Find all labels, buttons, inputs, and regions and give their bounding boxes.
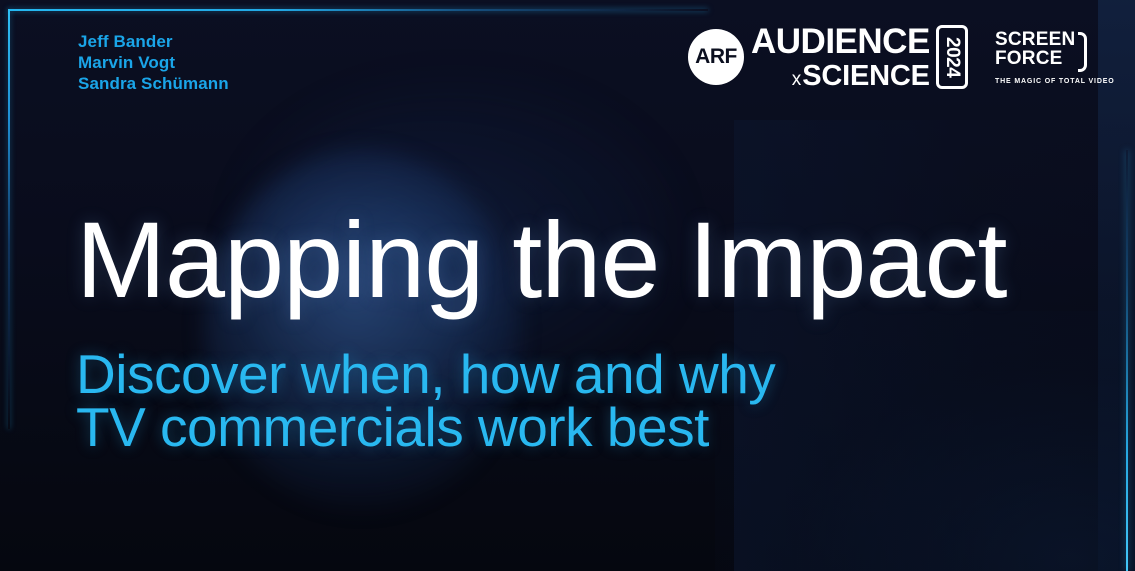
slide-subtitle: Discover when, how and why TV commercial…	[76, 348, 776, 454]
x-prefix: x	[792, 70, 802, 89]
arf-roundel-label: ARF	[695, 45, 737, 69]
year-badge-label: 2024	[941, 37, 963, 77]
speaker-name: Jeff Bander	[78, 31, 229, 52]
slide-title: Mapping the Impact	[76, 206, 1007, 314]
speaker-list: Jeff Bander Marvin Vogt Sandra Schümann	[78, 31, 229, 94]
year-badge: 2024	[936, 25, 968, 89]
screenforce-word-screen: SCREEN	[995, 30, 1075, 49]
arf-roundel-icon: ARF	[688, 29, 744, 85]
screenforce-tagline: THE MAGIC OF TOTAL VIDEO	[995, 78, 1087, 85]
screenforce-logo: SCREEN FORCE THE MAGIC OF TOTAL VIDEO	[995, 30, 1087, 85]
frame-line-left	[8, 9, 10, 429]
audience-word: AUDIENCE	[751, 24, 930, 59]
background-corner-glow	[715, 311, 1135, 571]
audience-science-words: AUDIENCE x SCIENCE	[751, 24, 930, 91]
presentation-slide: Jeff Bander Marvin Vogt Sandra Schümann …	[0, 0, 1135, 571]
screenforce-words: SCREEN FORCE	[995, 30, 1075, 68]
speaker-name: Marvin Vogt	[78, 52, 229, 73]
screen-bracket-icon	[1078, 32, 1087, 72]
science-row: x SCIENCE	[751, 62, 930, 91]
arf-audience-science-logo: ARF AUDIENCE x SCIENCE 2024	[688, 26, 968, 88]
science-word: SCIENCE	[802, 62, 930, 91]
screenforce-word-force: FORCE	[995, 49, 1075, 68]
speaker-name: Sandra Schümann	[78, 73, 229, 94]
audience-science-wordmark: AUDIENCE x SCIENCE 2024	[751, 24, 968, 91]
screenforce-wordmark: SCREEN FORCE	[995, 30, 1087, 72]
frame-line-top	[8, 9, 708, 11]
frame-line-right	[1126, 150, 1128, 571]
